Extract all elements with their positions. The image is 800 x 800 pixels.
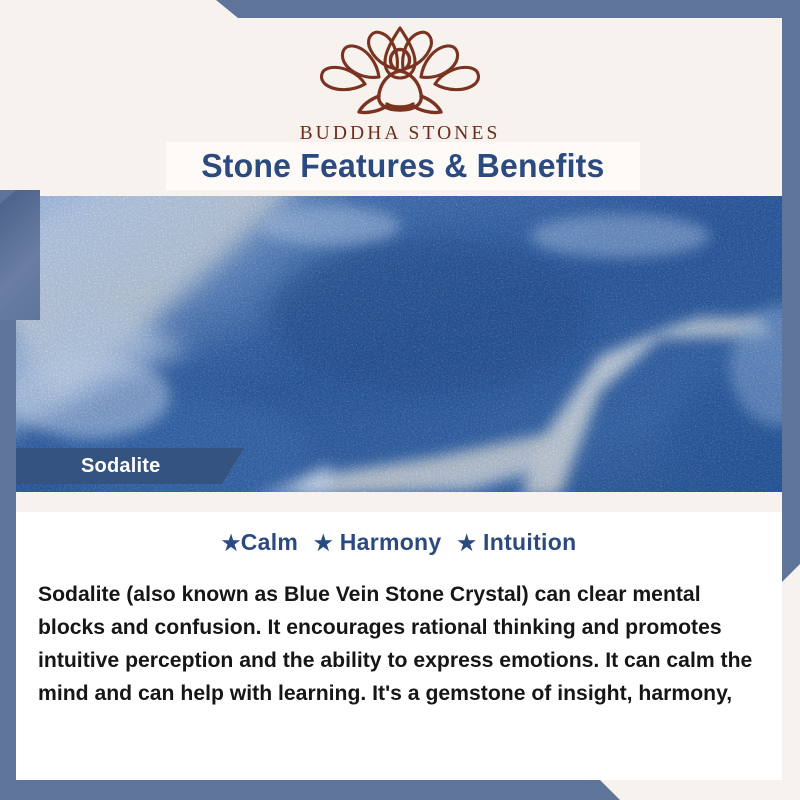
frame-left-corner-accent [0,190,40,320]
keyword-list: ★Calm ★ Harmony ★ Intuition [16,529,782,556]
keyword-label-2: Intuition [483,529,576,555]
keyword-item-0: ★Calm [222,529,299,555]
lotus-meditation-icon [307,22,493,118]
star-icon: ★ [222,532,241,555]
keyword-item-1: ★ Harmony [314,529,442,555]
frame-right-notch [782,560,800,800]
sodalite-stone-photo [0,196,800,492]
stone-name-label: Sodalite [81,455,160,478]
keyword-label-0: Calm [241,529,298,555]
page-title: Stone Features & Benefits [201,147,604,185]
keyword-label-1: Harmony [340,529,442,555]
brand-logo: BUDDHA STONES [0,22,800,145]
stone-name-badge: Sodalite [16,448,244,484]
keyword-item-2: ★ Intuition [457,529,576,555]
title-panel: Stone Features & Benefits [166,142,640,190]
star-icon: ★ [457,532,476,555]
poster-header: BUDDHA STONES Stone Features & Benefits [0,0,800,196]
star-icon: ★ [314,532,333,555]
frame-bottom-bar [0,780,800,800]
content-card-bottom-fill [16,712,782,780]
cream-divider-strip [16,492,782,512]
stone-info-poster: BUDDHA STONES Stone Features & Benefits … [0,0,800,800]
frame-right-notch-wrap [782,0,800,800]
